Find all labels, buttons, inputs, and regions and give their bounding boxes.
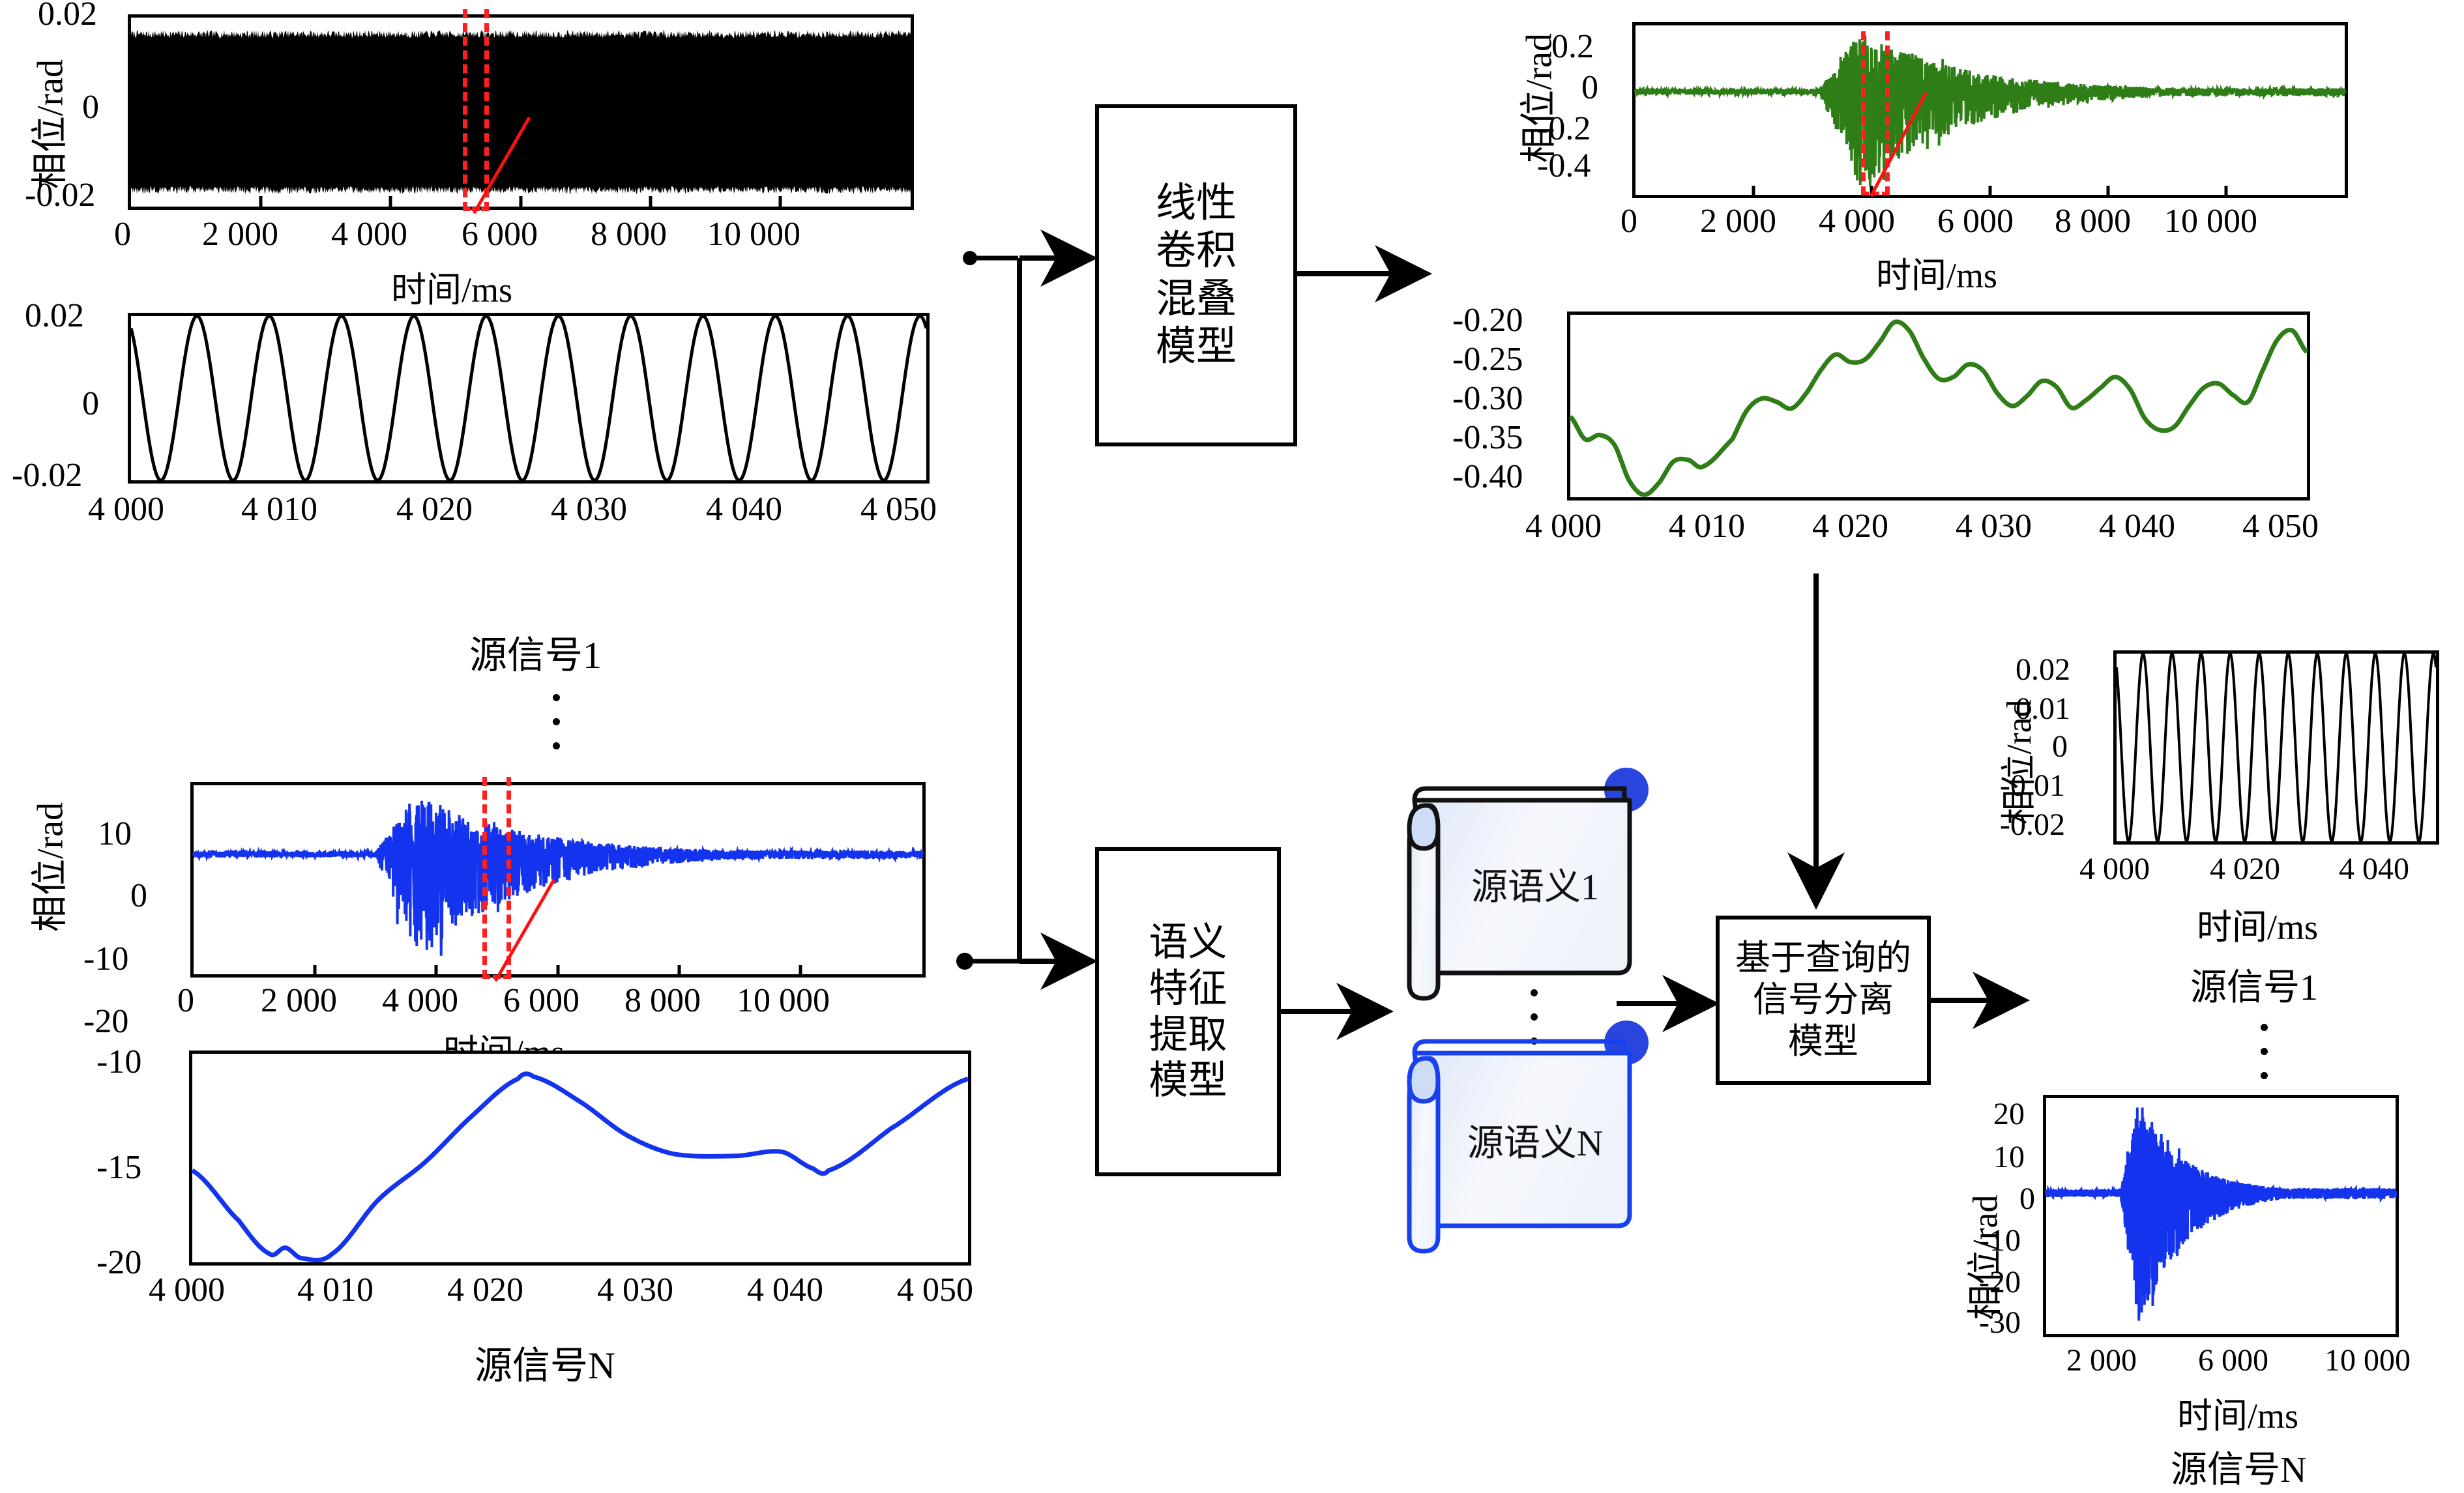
- src1-full-ytick-bot: -0.02: [25, 176, 95, 214]
- src1-full-xtick-0: 0: [114, 215, 131, 254]
- outN-xlabel: 时间/ms: [2177, 1387, 2298, 1438]
- srcN-full-ytick-0: 0: [130, 877, 147, 915]
- scroll-1-label: 源语义1: [1471, 867, 1599, 908]
- outN-xtick-0: 2 000: [2066, 1342, 2137, 1378]
- src1-full-xtick-1: 2 000: [202, 215, 278, 254]
- mixed-det-ytick-m030: -0.30: [1452, 379, 1523, 418]
- mixed-det-xtick-1: 4 010: [1669, 507, 1745, 545]
- block-linear-convolutional-mixing[interactable]: 线性 卷积 混叠 模型: [1095, 104, 1297, 446]
- out1-ytick-002: 0.02: [2016, 652, 2070, 688]
- out1-xlabel: 时间/ms: [2197, 898, 2318, 949]
- srcN-full-xtick-4: 8 000: [624, 981, 701, 1020]
- mixed-det-ytick-m040: -0.40: [1452, 457, 1523, 496]
- chart-src1-full: [128, 14, 914, 210]
- srcN-det-xtick-3: 4 030: [597, 1271, 673, 1309]
- vertical-dots-right-outputs: [2261, 1015, 2268, 1088]
- out1-ytick-0: 0: [2052, 729, 2068, 764]
- src1-det-xtick-3: 4 030: [551, 490, 627, 529]
- srcN-det-ytick-bot: -20: [96, 1243, 141, 1282]
- mixed-full-xlabel: 时间/ms: [1876, 246, 1997, 298]
- srcN-det-xtick-5: 4 050: [897, 1271, 973, 1309]
- src1-det-ytick-bot: -0.02: [12, 456, 82, 495]
- mixed-full-ytick-0: 0: [1581, 68, 1598, 107]
- srcN-det-ytick-top: -10: [96, 1043, 141, 1081]
- out1-xtick-1: 4 020: [2210, 851, 2280, 887]
- srcN-full-xtick-5: 10 000: [737, 981, 830, 1020]
- mixed-det-ytick-m035: -0.35: [1452, 418, 1523, 457]
- srcN-det-xtick-0: 4 000: [149, 1271, 225, 1309]
- outN-ytick-10: 10: [1993, 1139, 2025, 1175]
- src1-full-xlabel: 时间/ms: [391, 261, 512, 312]
- src1-det-ytick-top: 0.02: [25, 297, 84, 335]
- chart-mixed-detail: [1567, 312, 2310, 500]
- out1-ytick-001: 0.01: [2016, 691, 2070, 727]
- srcN-full-ytick-m20: -20: [83, 1002, 128, 1041]
- outN-ytick-0: 0: [2019, 1181, 2035, 1217]
- mixed-full-xtick-3: 6 000: [1937, 202, 2014, 240]
- mixed-full-xtick-0: 0: [1621, 202, 1637, 240]
- out1-xtick-0: 4 000: [2079, 851, 2150, 887]
- srcN-det-xtick-4: 4 040: [747, 1271, 823, 1309]
- chart-outN: [2043, 1095, 2399, 1337]
- src1-det-xtick-1: 4 010: [241, 490, 317, 529]
- mixed-full-xtick-4: 8 000: [2055, 202, 2131, 240]
- srcN-zoom-region-box: [482, 777, 511, 979]
- caption-source-signal-1-right: 源信号1: [2190, 958, 2318, 1011]
- src1-full-xtick-3: 6 000: [462, 215, 538, 254]
- srcN-full-ytick-m10: -10: [83, 940, 128, 978]
- chart-mixed-full: [1632, 22, 2348, 198]
- srcN-full-xtick-0: 0: [177, 981, 194, 1020]
- mixed-det-xtick-0: 4 000: [1525, 507, 1602, 545]
- mixed-full-xtick-1: 2 000: [1700, 202, 1776, 240]
- block-query-based-signal-separation-label: 基于查询的 信号分离 模型: [1735, 938, 1911, 1062]
- srcN-det-ytick-mid: -15: [96, 1148, 141, 1187]
- mixed-det-xtick-2: 4 020: [1812, 507, 1888, 545]
- src1-det-xtick-4: 4 040: [706, 490, 782, 529]
- src1-zoom-region-box: [463, 9, 489, 211]
- outN-ytick-m30: -30: [1979, 1305, 2021, 1341]
- caption-source-signal-N-right: 源信号N: [2171, 1440, 2306, 1493]
- src1-full-ytick-mid: 0: [82, 88, 99, 126]
- src1-full-ytick-top: 0.02: [38, 0, 97, 33]
- outN-ytick-m10: -10: [1979, 1223, 2021, 1258]
- mixed-full-ytick-m04: -0.4: [1537, 147, 1591, 185]
- srcN-full-xtick-3: 6 000: [503, 981, 579, 1020]
- caption-source-signal-1-left: 源信号1: [469, 624, 602, 679]
- src1-full-xtick-4: 8 000: [591, 215, 667, 254]
- mixed-full-xtick-5: 10 000: [2164, 202, 2257, 240]
- chart-out1: [2113, 650, 2439, 845]
- out1-xtick-2: 4 040: [2339, 851, 2409, 887]
- src1-det-xtick-2: 4 020: [396, 490, 473, 529]
- src1-det-xtick-5: 4 050: [860, 490, 937, 529]
- block-linear-convolutional-mixing-label: 线性 卷积 混叠 模型: [1156, 180, 1237, 371]
- mixed-full-xtick-2: 4 000: [1819, 202, 1895, 240]
- srcN-full-ytick-10: 10: [98, 815, 132, 853]
- block-query-based-signal-separation[interactable]: 基于查询的 信号分离 模型: [1716, 916, 1931, 1085]
- srcN-det-xtick-1: 4 010: [297, 1271, 374, 1309]
- chart-srcN-detail: [189, 1051, 971, 1266]
- scroll-N-label: 源语义N: [1467, 1123, 1603, 1164]
- src1-det-ytick-mid: 0: [82, 384, 99, 423]
- outN-xtick-1: 6 000: [2198, 1342, 2268, 1378]
- outN-ytick-m20: -20: [1979, 1264, 2021, 1300]
- arrow-mixing-to-green-plot: [1294, 261, 1489, 287]
- outN-ytick-20: 20: [1993, 1096, 2025, 1132]
- arrow-separation-to-outputs: [1928, 987, 2046, 1013]
- arrow-mixed-detail-to-separation: [1797, 573, 1836, 919]
- vertical-dots-left-sources: [553, 686, 560, 758]
- srcN-full-xtick-2: 4 000: [382, 981, 458, 1020]
- block-semantic-feature-extraction-label: 语义 特征 提取 模型: [1149, 920, 1227, 1104]
- src1-full-xtick-5: 10 000: [707, 215, 800, 254]
- srcN-full-xtick-1: 2 000: [261, 981, 337, 1020]
- scroll-source-semantic-N[interactable]: 源语义N: [1395, 1015, 1669, 1269]
- block-semantic-feature-extraction[interactable]: 语义 特征 提取 模型: [1095, 847, 1281, 1176]
- srcN-det-xtick-2: 4 020: [447, 1271, 523, 1309]
- caption-source-signal-N-left: 源信号N: [475, 1335, 615, 1389]
- mixed-det-ytick-m020: -0.20: [1452, 301, 1523, 340]
- mixed-det-xtick-3: 4 030: [1956, 507, 2032, 545]
- outN-xtick-2: 10 000: [2325, 1342, 2411, 1378]
- mixed-full-ytick-m02: -0.2: [1537, 109, 1591, 148]
- srcN-full-ylabel: 相位/rad: [21, 783, 74, 952]
- chart-srcN-full: [190, 782, 926, 978]
- out1-ytick-m001: -0.01: [2000, 768, 2065, 804]
- mixed-det-xtick-4: 4 040: [2099, 507, 2175, 545]
- mixed-det-xtick-5: 4 050: [2242, 507, 2319, 545]
- src1-full-xtick-2: 4 000: [331, 215, 407, 254]
- out1-ytick-m002: -0.02: [2000, 807, 2065, 843]
- src1-det-xtick-0: 4 000: [88, 490, 164, 529]
- chart-src1-detail: [128, 313, 930, 484]
- mixed-det-ytick-m025: -0.25: [1452, 340, 1523, 379]
- mixed-full-ytick-02: 0.2: [1551, 27, 1594, 66]
